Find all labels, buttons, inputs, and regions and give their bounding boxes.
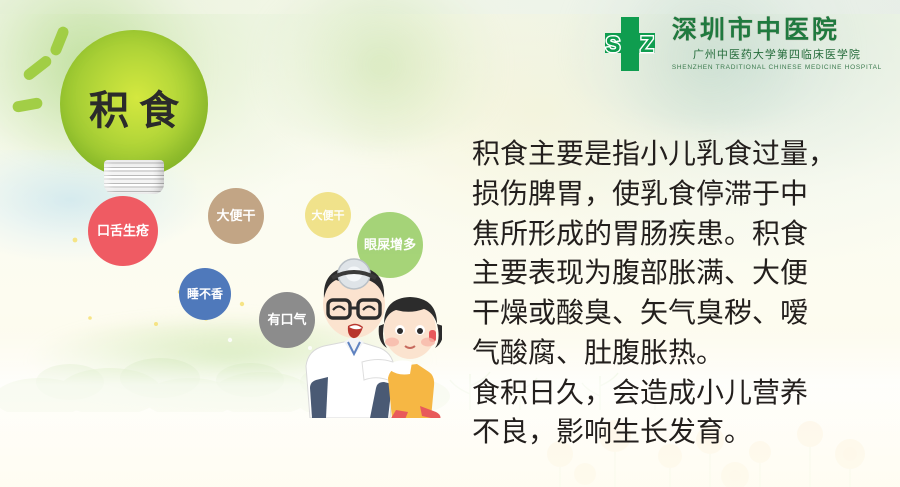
slide-canvas: 积食 口舌生疮大便干大便干眼屎增多睡不香有口气: [0, 0, 900, 487]
symptom-bubble: 睡不香: [179, 268, 231, 320]
svg-text:S: S: [606, 32, 621, 57]
symptom-bubble-label: 大便干: [216, 210, 255, 223]
medical-cross-icon: S S Z Z: [597, 15, 663, 73]
topic-title: 积食: [60, 78, 208, 136]
doctor-and-child-illustration: [292, 238, 442, 418]
hospital-name-sub: 广州中医药大学第四临床医学院: [672, 46, 882, 62]
svg-text:Z: Z: [640, 32, 653, 57]
symptom-bubble: 大便干: [305, 192, 351, 238]
bulb-ray-2: [22, 54, 54, 82]
symptom-bubble-label: 口舌生疮: [97, 225, 149, 238]
symptom-bubble: 大便干: [208, 188, 264, 244]
hospital-name-en: SHENZHEN TRADITIONAL CHINESE MEDICINE HO…: [672, 64, 882, 71]
hospital-logo: S S Z Z 深圳市中医院 广州中医药大学第四临床医学院 SHENZHEN T…: [597, 14, 882, 74]
description-text: 积食主要是指小儿乳食过量， 损伤脾胃，使乳食停滞于中 焦所形成的胃肠疾患。积食 …: [472, 134, 884, 452]
hospital-name-cn: 深圳市中医院: [672, 17, 882, 43]
bulb-screw-base: [104, 160, 164, 194]
hospital-logo-text: 深圳市中医院 广州中医药大学第四临床医学院 SHENZHEN TRADITION…: [672, 17, 882, 70]
symptom-bubble-label: 睡不香: [187, 288, 223, 300]
bulb-ray-1: [49, 25, 70, 57]
symptom-bubble: 口舌生疮: [88, 196, 158, 266]
symptom-bubble-label: 大便干: [312, 210, 345, 221]
